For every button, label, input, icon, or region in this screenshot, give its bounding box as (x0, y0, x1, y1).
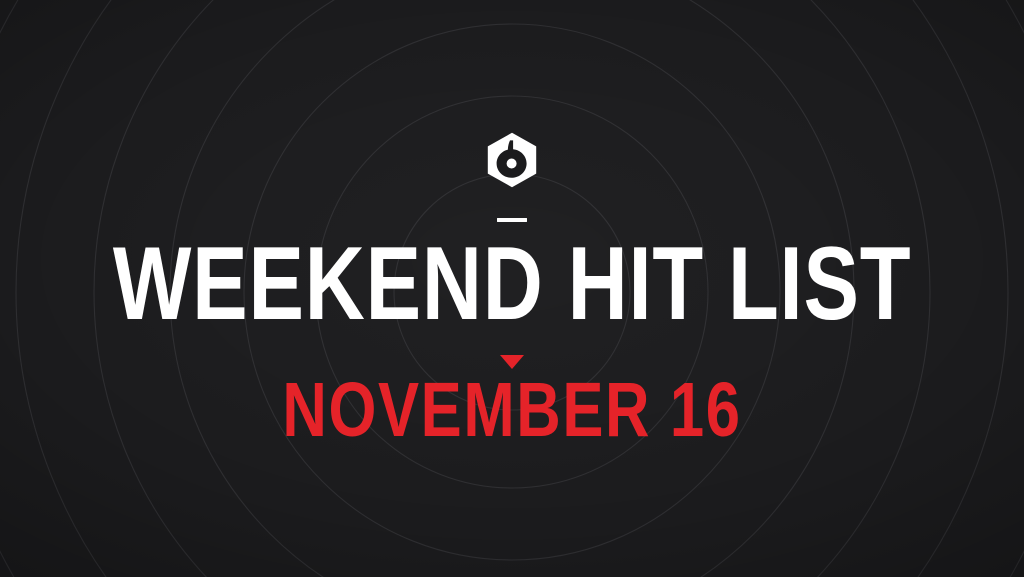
poster-canvas: WEEKEND HIT LIST NOVEMBER 16 (0, 0, 1024, 577)
horizontal-rule-divider-icon (497, 218, 527, 222)
poster-content: WEEKEND HIT LIST NOVEMBER 16 (0, 0, 1024, 577)
beats-hexagon-logo-icon (486, 132, 538, 188)
page-title: WEEKEND HIT LIST (113, 244, 912, 325)
logo-center-dot (507, 159, 517, 169)
date-subtitle: NOVEMBER 16 (282, 380, 741, 442)
